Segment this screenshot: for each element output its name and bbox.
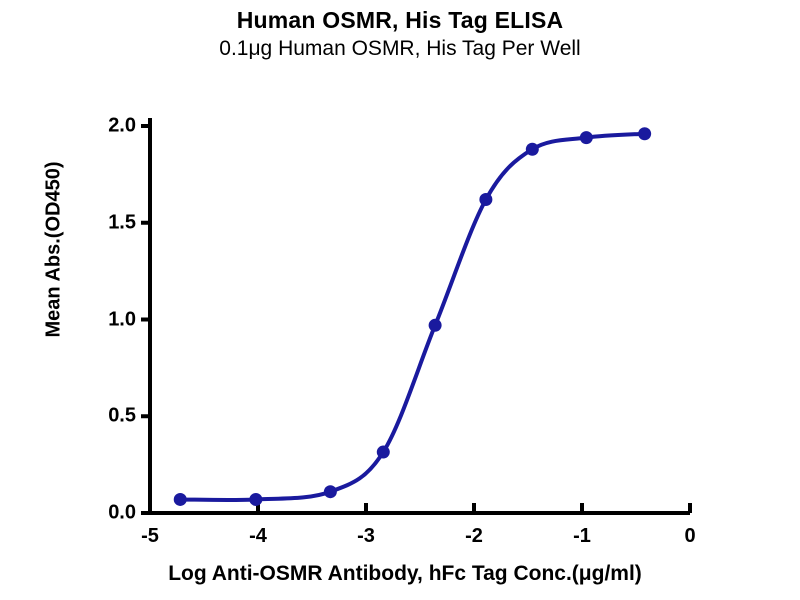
y-tick-label: 0.0 <box>80 502 136 525</box>
axis-ticks <box>141 126 690 513</box>
elisa-chart-figure: Human OSMR, His Tag ELISA 0.1μg Human OS… <box>0 0 800 600</box>
x-tick-label: -4 <box>249 525 267 548</box>
data-point <box>638 127 651 140</box>
data-point <box>249 493 262 506</box>
axis-lines <box>150 118 690 513</box>
x-tick-label: -2 <box>465 525 483 548</box>
y-tick-label: 2.0 <box>80 115 136 138</box>
y-tick-label: 1.0 <box>80 308 136 331</box>
data-point <box>377 446 390 459</box>
data-point-markers <box>174 127 651 506</box>
data-point <box>174 493 187 506</box>
data-point <box>324 485 337 498</box>
x-tick-label: -5 <box>141 525 159 548</box>
data-point <box>429 319 442 332</box>
data-point <box>479 193 492 206</box>
data-point <box>526 143 539 156</box>
y-tick-label: 1.5 <box>80 211 136 234</box>
x-tick-label: -3 <box>357 525 375 548</box>
series-curve <box>180 134 644 500</box>
data-point <box>580 131 593 144</box>
x-tick-label: 0 <box>684 525 695 548</box>
y-tick-label: 0.5 <box>80 405 136 428</box>
x-tick-label: -1 <box>573 525 591 548</box>
